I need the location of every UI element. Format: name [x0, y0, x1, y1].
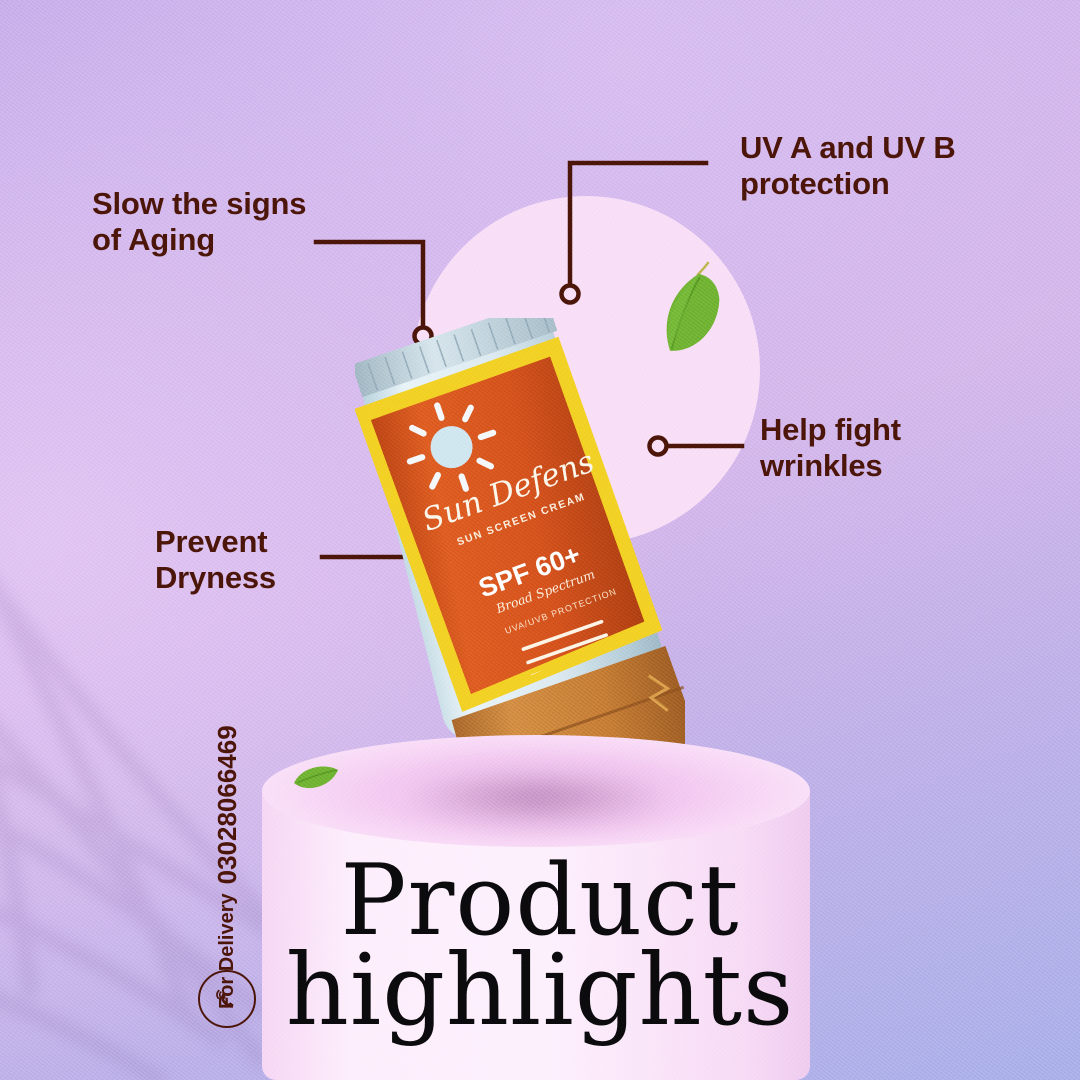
callout-label-slow-aging: Slow the signs of Aging — [92, 186, 306, 259]
callout-label-uv-protection: UV A and UV B protection — [740, 130, 956, 203]
connector-slow-aging — [316, 242, 423, 327]
podium-shadow — [358, 759, 718, 837]
callout-label-prevent-dryness: Prevent Dryness — [155, 524, 276, 597]
delivery-phone-number[interactable]: 03028066469 — [212, 725, 243, 884]
delivery-contact[interactable]: For Delivery 03028066469 — [186, 784, 270, 1038]
connector-dot-uv-protection — [562, 286, 579, 303]
page-title: Product highlights — [0, 856, 1080, 1036]
callout-label-fight-wrinkles: Help fight wrinkles — [760, 412, 901, 485]
leaf-icon-podium — [288, 761, 342, 795]
page-title-line-1: Product — [0, 856, 1080, 946]
phone-call-icon[interactable] — [198, 970, 256, 1028]
product-tube: Sun Defense SUN SCREEN CREAM SPF 60+ Bro… — [355, 318, 685, 788]
page-title-line-2: highlights — [0, 946, 1080, 1036]
poster-canvas: Sun Defense SUN SCREEN CREAM SPF 60+ Bro… — [0, 0, 1080, 1080]
